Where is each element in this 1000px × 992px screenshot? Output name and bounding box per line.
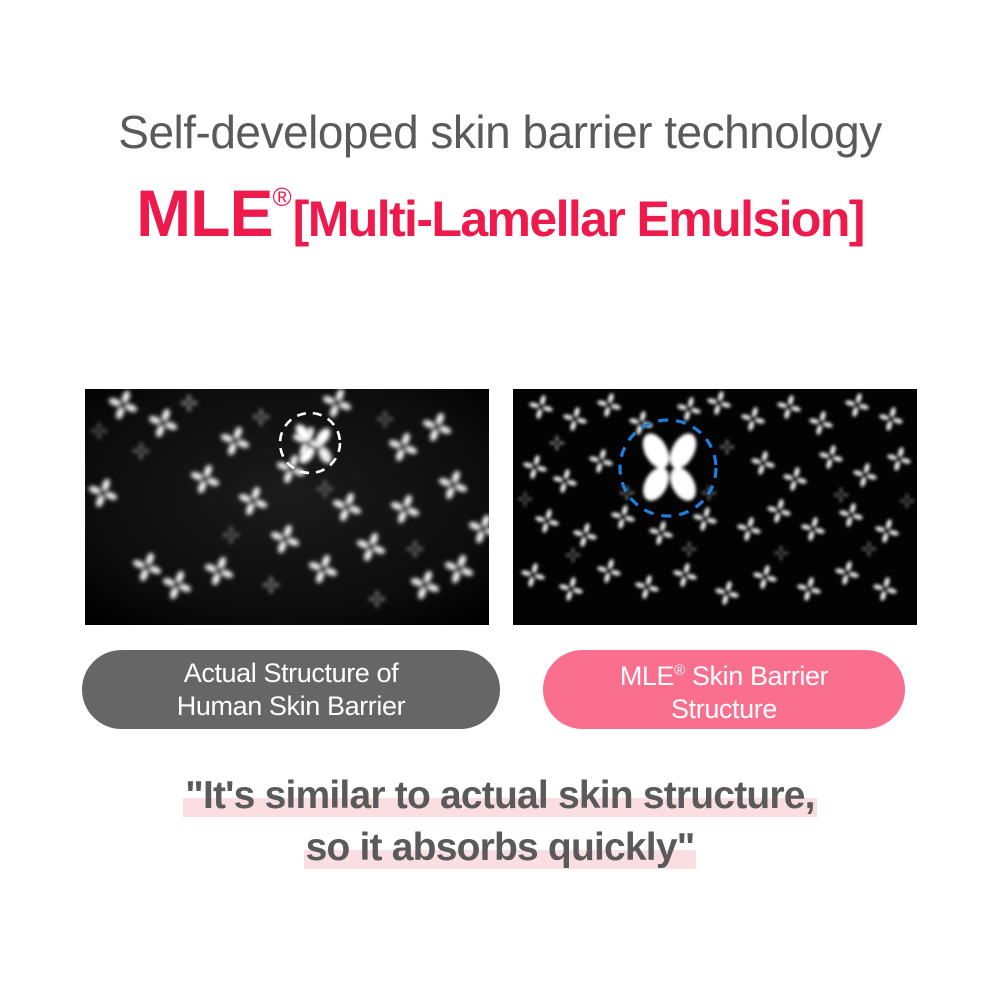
caption-mle-skin-barrier: MLE® Skin Barrier Structure (543, 650, 905, 729)
registered-trademark-icon: ® (674, 662, 685, 679)
page-title: Self-developed skin barrier technology (0, 104, 1000, 160)
caption-mle-brand: MLE (620, 661, 674, 691)
micrograph-panel-group (85, 389, 918, 625)
micrograph-human-skin-image (85, 389, 489, 625)
promo-page: Self-developed skin barrier technology M… (0, 0, 1000, 992)
quote-block: "It's similar to actual skin structure, … (0, 770, 1000, 874)
quote-line-2-text: so it absorbs quickly" (306, 826, 695, 869)
micrograph-human-skin (85, 389, 489, 625)
caption-mle-suffix: Skin Barrier Structure (671, 661, 828, 724)
registered-trademark-icon: ® (272, 182, 291, 212)
micrograph-mle-structure-image (513, 389, 917, 625)
quote-line-2: so it absorbs quickly" (0, 822, 1000, 874)
caption-human-skin-barrier: Actual Structure of Human Skin Barrier (82, 650, 500, 729)
quote-line-1-text: "It's similar to actual skin structure, (185, 774, 814, 817)
brand-lockup: MLE®[Multi-Lamellar Emulsion] (0, 180, 1000, 246)
caption-mle-text: MLE® Skin Barrier Structure (620, 654, 828, 726)
micrograph-mle-structure (513, 389, 917, 625)
brand-name: MLE (136, 176, 272, 250)
quote-highlight-1: "It's similar to actual skin structure, (183, 770, 816, 822)
quote-highlight-2: so it absorbs quickly" (304, 822, 697, 874)
quote-line-1: "It's similar to actual skin structure, (0, 770, 1000, 822)
brand-expansion: [Multi-Lamellar Emulsion] (293, 191, 864, 247)
